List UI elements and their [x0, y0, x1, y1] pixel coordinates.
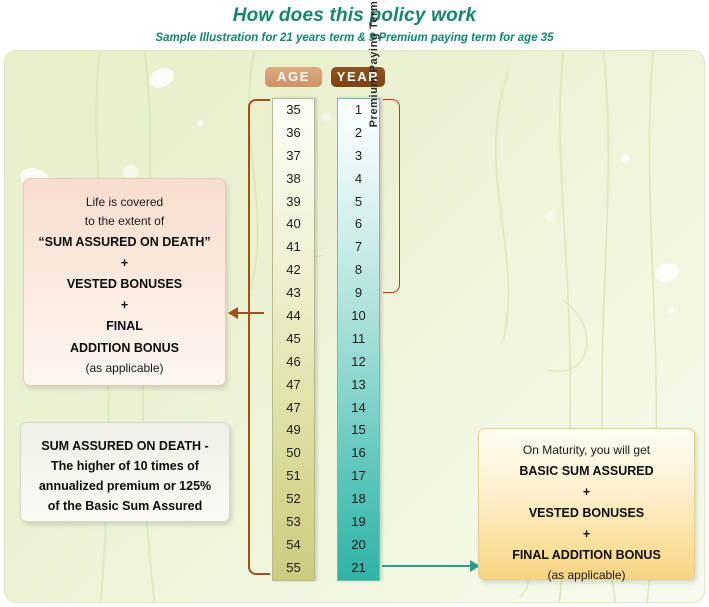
death-line-5: FINAL	[24, 315, 225, 337]
age-cell: 50	[273, 442, 314, 465]
year-cell: 6	[338, 213, 379, 236]
definition-line-4: of the Basic Sum Assured	[21, 496, 229, 516]
year-cell: 14	[338, 397, 379, 420]
maturity-line-3: VESTED BONUSES	[479, 502, 694, 524]
definition-line-3: annualized premium or 125%	[21, 476, 229, 496]
year-cell: 15	[338, 419, 379, 442]
age-cell: 35	[273, 99, 314, 122]
year-cell: 8	[338, 259, 379, 282]
age-cell: 53	[273, 511, 314, 534]
page-subtitle: Sample Illustration for 21 years term & …	[0, 29, 709, 47]
age-cell: 42	[273, 259, 314, 282]
maturity-benefit-box: On Maturity, you will get BASIC SUM ASSU…	[478, 428, 695, 580]
year-cell: 18	[338, 488, 379, 511]
age-cell: 46	[273, 351, 314, 374]
death-line-6: ADDITION BONUS	[24, 337, 225, 359]
death-line-1: Life is covered	[24, 193, 225, 212]
age-cell: 47	[273, 374, 314, 397]
age-cell: 36	[273, 122, 314, 145]
maturity-plus-1: +	[479, 482, 694, 502]
year-cell: 17	[338, 465, 379, 488]
age-cell: 47	[273, 397, 314, 420]
age-cell: 39	[273, 191, 314, 214]
year-cell: 16	[338, 442, 379, 465]
death-line-7: (as applicable)	[24, 359, 225, 378]
maturity-line-2: BASIC SUM ASSURED	[479, 460, 694, 482]
age-cell: 43	[273, 282, 314, 305]
definition-line-2: The higher of 10 times of	[21, 456, 229, 476]
age-cell: 52	[273, 488, 314, 511]
year-cell: 12	[338, 351, 379, 374]
death-plus-2: +	[24, 295, 225, 315]
year-column: 1 2 3 4 5 6 7 8 9 10 11 12 13 14 15 16 1…	[337, 98, 380, 581]
page-header: How does this policy work Sample Illustr…	[0, 0, 709, 47]
death-line-4: VESTED BONUSES	[24, 273, 225, 295]
premium-paying-term-bracket	[383, 99, 400, 293]
age-cell: 55	[273, 557, 314, 580]
death-benefit-box: Life is covered to the extent of “SUM AS…	[23, 178, 226, 386]
year-cell: 9	[338, 282, 379, 305]
age-column-header: AGE	[265, 67, 322, 87]
age-cell: 49	[273, 419, 314, 442]
age-cell: 40	[273, 213, 314, 236]
definition-line-1: SUM ASSURED ON DEATH -	[21, 436, 229, 456]
death-line-2: to the extent of	[24, 212, 225, 231]
year-cell: 7	[338, 236, 379, 259]
maturity-line-4: FINAL ADDITION BONUS	[479, 544, 694, 566]
death-benefit-arrow-icon	[228, 307, 238, 319]
year-cell: 5	[338, 191, 379, 214]
death-plus-1: +	[24, 253, 225, 273]
premium-paying-term-label: Premium Paying Term	[368, 0, 380, 130]
year-cell: 11	[338, 328, 379, 351]
age-cell: 44	[273, 305, 314, 328]
year-cell: 19	[338, 511, 379, 534]
age-cell: 41	[273, 236, 314, 259]
year-cell: 3	[338, 145, 379, 168]
age-cell: 38	[273, 168, 314, 191]
age-cell: 51	[273, 465, 314, 488]
age-column: 35 36 37 38 39 40 41 42 43 44 45 46 47 4…	[272, 98, 315, 581]
death-line-3: “SUM ASSURED ON DEATH”	[24, 231, 225, 253]
sum-assured-definition-box: SUM ASSURED ON DEATH - The higher of 10 …	[20, 422, 230, 522]
age-cell: 45	[273, 328, 314, 351]
age-span-bracket	[248, 99, 270, 575]
maturity-line-5: (as applicable)	[479, 566, 694, 585]
year-cell: 10	[338, 305, 379, 328]
age-cell: 37	[273, 145, 314, 168]
year-cell: 21	[338, 557, 379, 580]
death-benefit-arrow-line	[236, 312, 264, 314]
year-cell: 13	[338, 374, 379, 397]
year-cell: 4	[338, 168, 379, 191]
page-title: How does this policy work	[0, 4, 709, 28]
age-cell: 54	[273, 534, 314, 557]
maturity-arrow-line	[382, 565, 472, 567]
maturity-line-1: On Maturity, you will get	[479, 441, 694, 460]
maturity-plus-2: +	[479, 524, 694, 544]
year-cell: 20	[338, 534, 379, 557]
